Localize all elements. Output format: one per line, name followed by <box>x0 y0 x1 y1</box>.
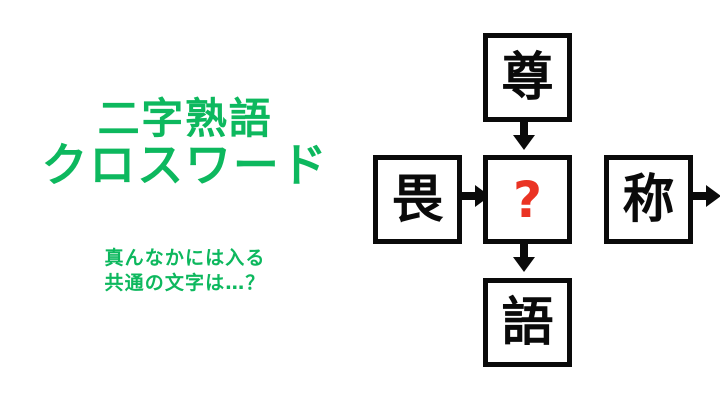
page-title-line-1: 二字熟語 <box>0 96 370 141</box>
subtitle-line-2: 共通の文字は…？ <box>0 271 370 296</box>
title-block: 二字熟語 クロスワード <box>0 96 370 191</box>
subtitle-line-1: 真んなかには入る <box>0 246 370 271</box>
kanji-char-right: 称 <box>622 174 674 226</box>
kanji-box-bottom: 語 <box>483 278 572 367</box>
kanji-char-left: 畏 <box>391 174 443 226</box>
puzzle-slide: 二字熟語 クロスワード 真んなかには入る 共通の文字は…？ 尊 畏 <box>0 0 720 405</box>
kanji-box-top: 尊 <box>483 33 572 122</box>
arrow-right-icon-center <box>693 185 720 207</box>
kanji-char-top: 尊 <box>501 52 553 104</box>
kanji-char-bottom: 語 <box>501 297 553 349</box>
kanji-box-right: 称 <box>604 155 693 244</box>
answer-placeholder-question-mark: ? <box>513 175 542 225</box>
kanji-box-left: 畏 <box>373 155 462 244</box>
page-title-line-2: クロスワード <box>0 141 370 191</box>
arrow-down-icon-top <box>513 122 535 150</box>
kanji-cross-diagram: 尊 畏 ? 称 <box>370 0 720 405</box>
kanji-box-center-answer[interactable]: ? <box>483 155 572 244</box>
arrow-down-icon-center <box>513 244 535 272</box>
subtitle-block: 真んなかには入る 共通の文字は…？ <box>0 246 370 296</box>
